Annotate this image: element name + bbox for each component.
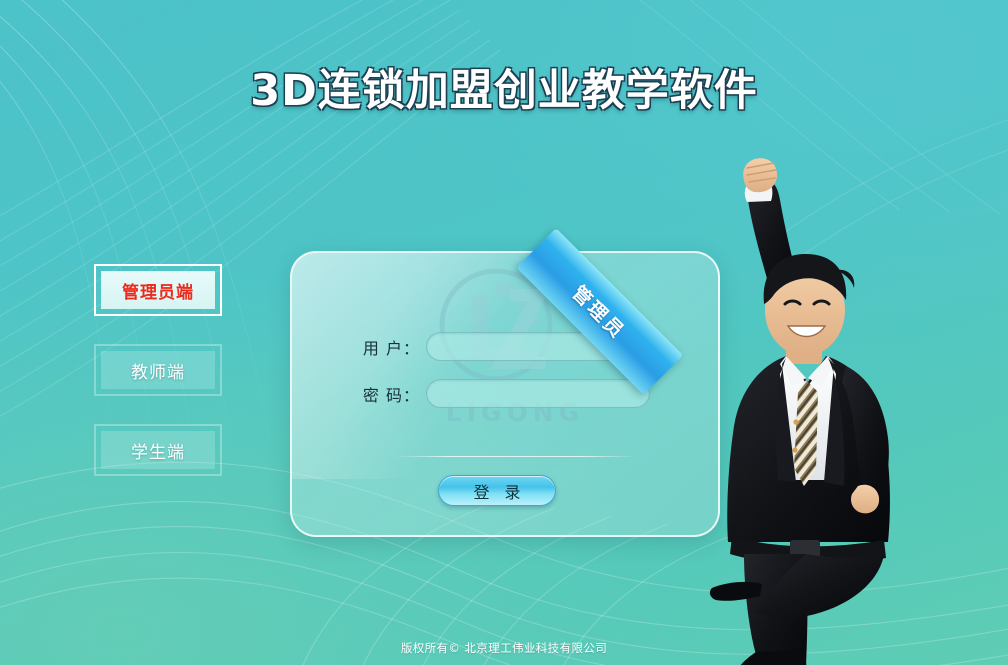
footer-copyright: 版权所有© 北京理工伟业科技有限公司 [0,640,1008,656]
sidebar-item-student[interactable]: 学生端 [94,424,222,476]
sidebar-item-admin[interactable]: 管理员端 [94,264,222,316]
role-admin-label: 管理员端 [122,278,194,303]
login-button[interactable]: 登 录 [438,475,556,506]
login-panel: ® LIGONG 用 户： 密 码： 登 录 [290,251,720,537]
sidebar-item-teacher[interactable]: 教师端 [94,344,222,396]
username-label: 用 户： [338,335,420,359]
role-selector: 管理员端 教师端 学生端 [94,264,222,504]
password-label: 密 码： [338,382,420,406]
role-student-label: 学生端 [131,438,185,463]
page-title: 3D连锁加盟创业教学软件 [0,56,1008,118]
role-teacher-label: 教师端 [131,358,185,383]
password-input[interactable] [426,379,650,408]
password-row: 密 码： [338,379,650,408]
login-screen: 3D连锁加盟创业教学软件 管理员端 教师端 学生端 [0,0,1008,665]
form-divider [396,456,636,457]
